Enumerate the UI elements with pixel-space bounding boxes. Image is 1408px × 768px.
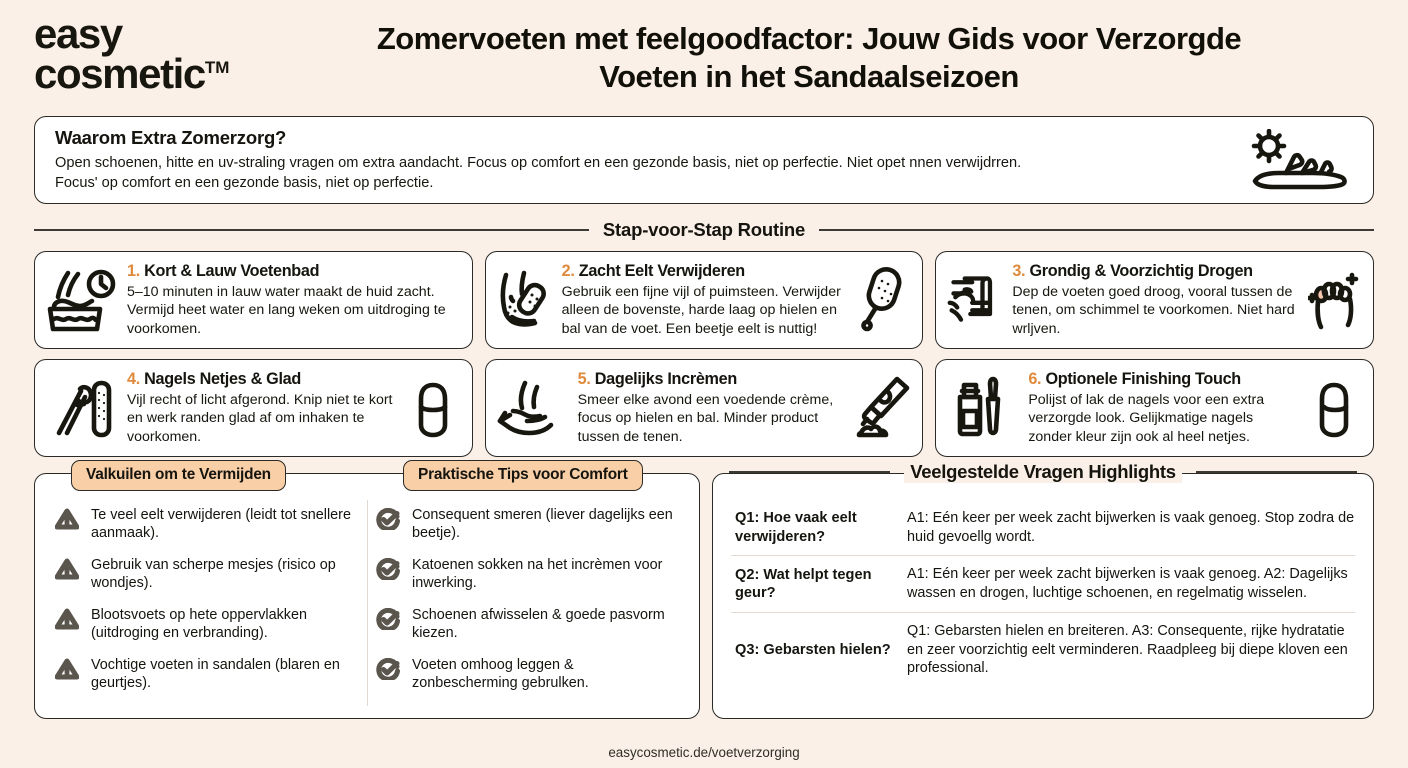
why-heading: Waarom Extra Zomerzorg? (55, 127, 1223, 149)
faq-answer-2: A1: Eén keer per week zacht bijwerken is… (907, 565, 1355, 602)
step-title-1: Kort & Lauw Voetenbad (144, 262, 319, 280)
check-circle-icon (376, 556, 403, 580)
tip-text-3: Schoenen afwisselen & goede pasvorm kiez… (412, 606, 677, 643)
step-text-4: Vijl recht of licht afgerond. Knip niet … (127, 391, 396, 446)
step-title-6: Optionele Finishing Touch (1045, 370, 1240, 388)
step-card-5: 5. Dagelijks Incrèmen Smeer elke avond e… (485, 359, 924, 457)
step-body-5: 5. Dagelijks Incrèmen Smeer elke avond e… (578, 370, 847, 446)
hand-foot-cream-icon (496, 377, 570, 439)
footer-url: easycosmetic.de/voetverzorging (0, 745, 1408, 760)
step-text-5: Smeer elke avond een voedende crème, foc… (578, 391, 847, 446)
faq-answer-3: Q1: Gebarsten hielen en breiteren. A3: C… (907, 622, 1355, 678)
step-body-4: 4. Nagels Netjes & Glad Vijl recht of li… (127, 370, 396, 446)
faq-row-1: Q1: Hoe vaak eelt verwijderen? A1: Eén k… (731, 500, 1355, 556)
trademark-mark: TM (205, 58, 230, 77)
pitfall-text-1: Te veel eelt verwijderen (leidt tot snel… (91, 506, 357, 543)
divider-left (34, 229, 589, 231)
faq-answer-1: A1: Eén keer per week zacht bijwerken is… (907, 509, 1355, 546)
warning-triangle-icon (55, 506, 82, 530)
nail-icon (404, 377, 462, 439)
step-title-2: Zacht Eelt Verwijderen (579, 262, 745, 280)
faq-title-row: Veelgestelde Vragen Highlights (713, 461, 1373, 483)
tip-text-2: Katoenen sokken na het incrèmen voor inw… (412, 556, 677, 593)
list-item: Vochtige voeten in sandalen (blaren en g… (55, 656, 357, 693)
step-card-6: 6. Optionele Finishing Touch Polijst of … (935, 359, 1374, 457)
pitfall-text-4: Vochtige voeten in sandalen (blaren en g… (91, 656, 357, 693)
step-title-5: Dagelijks Incrèmen (595, 370, 737, 388)
infographic-page: easy cosmeticTM Zomervoeten met feelgood… (0, 0, 1408, 768)
hand-towel-icon (946, 267, 1004, 333)
why-line-2: Focus' op comfort en een gezonde basis, … (55, 173, 1223, 193)
step-number-2: 2. (562, 262, 575, 280)
bottom-section: Valkuilen om te Vermijden Praktische Tip… (34, 473, 1374, 719)
step-text-1: 5–10 minuten in lauw water maakt de huid… (127, 283, 462, 338)
check-circle-icon (376, 656, 403, 680)
step-heading-4: 4. Nagels Netjes & Glad (127, 370, 396, 389)
pitfalls-badge: Valkuilen om te Vermijden (71, 460, 286, 491)
faq-row-3: Q3: Gebarsten hielen? Q1: Gebarsten hiel… (731, 613, 1355, 687)
warning-triangle-icon (55, 656, 82, 680)
step-number-4: 4. (127, 370, 140, 388)
step-title-3: Grondig & Voorzichtig Drogen (1029, 262, 1252, 280)
list-item: Katoenen sokken na het incrèmen voor inw… (376, 556, 677, 593)
foot-bath-clock-icon (45, 267, 119, 333)
step-heading-1: 1. Kort & Lauw Voetenbad (127, 262, 462, 281)
step-body-1: 1. Kort & Lauw Voetenbad 5–10 minuten in… (127, 262, 462, 338)
faq-divider-left (729, 471, 890, 473)
nail-polish-icon (946, 375, 1020, 441)
why-text-block: Waarom Extra Zomerzorg? Open schoenen, h… (55, 127, 1223, 193)
warning-triangle-icon (55, 606, 82, 630)
step-body-3: 3. Grondig & Voorzichtig Drogen Dep de v… (1012, 262, 1297, 338)
step-card-2: 2. Zacht Eelt Verwijderen Gebruik een fi… (485, 251, 924, 349)
step-number-6: 6. (1028, 370, 1041, 388)
list-item: Voeten omhoog leggen & zonbescherming ge… (376, 656, 677, 693)
step-body-6: 6. Optionele Finishing Touch Polijst of … (1028, 370, 1297, 446)
warning-triangle-icon (55, 556, 82, 580)
faq-divider-right (1196, 471, 1357, 473)
check-circle-icon (376, 506, 403, 530)
step-cards-grid: 1. Kort & Lauw Voetenbad 5–10 minuten in… (34, 251, 1374, 457)
sun-sandal-icon (1235, 129, 1355, 191)
step-heading-5: 5. Dagelijks Incrèmen (578, 370, 847, 389)
step-number-5: 5. (578, 370, 591, 388)
faq-question-3: Q3: Gebarsten hielen? (735, 641, 893, 659)
list-item: Blootsvoets op hete oppervlakken (uitdro… (55, 606, 357, 643)
header: easy cosmeticTM Zomervoeten met feelgood… (28, 0, 1380, 110)
list-item: Te veel eelt verwijderen (leidt tot snel… (55, 506, 357, 543)
step-number-3: 3. (1012, 262, 1025, 280)
step-card-3: 3. Grondig & Voorzichtig Drogen Dep de v… (935, 251, 1374, 349)
step-title-4: Nagels Netjes & Glad (144, 370, 301, 388)
faq-row-2: Q2: Wat helpt tegen geur? A1: Eén keer p… (731, 556, 1355, 612)
list-item: Gebruik van scherpe mesjes (risico op wo… (55, 556, 357, 593)
why-summer-care-panel: Waarom Extra Zomerzorg? Open schoenen, h… (34, 116, 1374, 204)
page-title: Zomervoeten met feelgoodfactor: Jouw Gid… (328, 14, 1320, 95)
foot-file-icon (854, 265, 912, 335)
faq-panel: Veelgestelde Vragen Highlights Q1: Hoe v… (712, 473, 1374, 719)
polished-nail-icon (1305, 377, 1363, 439)
pitfalls-list: Te veel eelt verwijderen (leidt tot snel… (47, 500, 367, 706)
tip-text-1: Consequent smeren (liever dagelijks een … (412, 506, 677, 543)
step-text-3: Dep de voeten goed droog, vooral tussen … (1012, 283, 1297, 338)
step-heading-3: 3. Grondig & Voorzichtig Drogen (1012, 262, 1297, 281)
step-text-6: Polijst of lak de nagels voor een extra … (1028, 391, 1297, 446)
why-line-1: Open schoenen, hitte en uv-straling vrag… (55, 153, 1223, 173)
steps-section-title: Stap-voor-Stap Routine (603, 219, 805, 241)
toes-sparkle-icon (1305, 267, 1363, 333)
list-item: Consequent smeren (liever dagelijks een … (376, 506, 677, 543)
faq-question-2: Q2: Wat helpt tegen geur? (735, 566, 893, 603)
step-heading-6: 6. Optionele Finishing Touch (1028, 370, 1297, 389)
check-circle-icon (376, 606, 403, 630)
nail-clipper-file-icon (45, 375, 119, 441)
tips-badge: Praktische Tips voor Comfort (403, 460, 643, 491)
step-text-2: Gebruik een fijne vijl of puimsteen. Ver… (562, 283, 847, 338)
cream-tube-icon (854, 375, 912, 441)
brand-logo: easy cosmeticTM (28, 14, 328, 94)
pitfall-text-2: Gebruik van scherpe mesjes (risico op wo… (91, 556, 357, 593)
step-card-4: 4. Nagels Netjes & Glad Vijl recht of li… (34, 359, 473, 457)
pitfalls-tips-panel: Valkuilen om te Vermijden Praktische Tip… (34, 473, 700, 719)
foot-pumice-icon (496, 267, 554, 333)
tips-list: Consequent smeren (liever dagelijks een … (367, 500, 687, 706)
step-heading-2: 2. Zacht Eelt Verwijderen (562, 262, 847, 281)
step-body-2: 2. Zacht Eelt Verwijderen Gebruik een fi… (562, 262, 847, 338)
divider-right (819, 229, 1374, 231)
steps-section-label: Stap-voor-Stap Routine (34, 219, 1374, 241)
step-number-1: 1. (127, 262, 140, 280)
pitfall-text-3: Blootsvoets op hete oppervlakken (uitdro… (91, 606, 357, 643)
brand-line-2: cosmetic (34, 50, 205, 97)
tip-text-4: Voeten omhoog leggen & zonbescherming ge… (412, 656, 677, 693)
step-card-1: 1. Kort & Lauw Voetenbad 5–10 minuten in… (34, 251, 473, 349)
faq-question-1: Q1: Hoe vaak eelt verwijderen? (735, 509, 893, 546)
faq-title: Veelgestelde Vragen Highlights (904, 461, 1182, 483)
list-item: Schoenen afwisselen & goede pasvorm kiez… (376, 606, 677, 643)
